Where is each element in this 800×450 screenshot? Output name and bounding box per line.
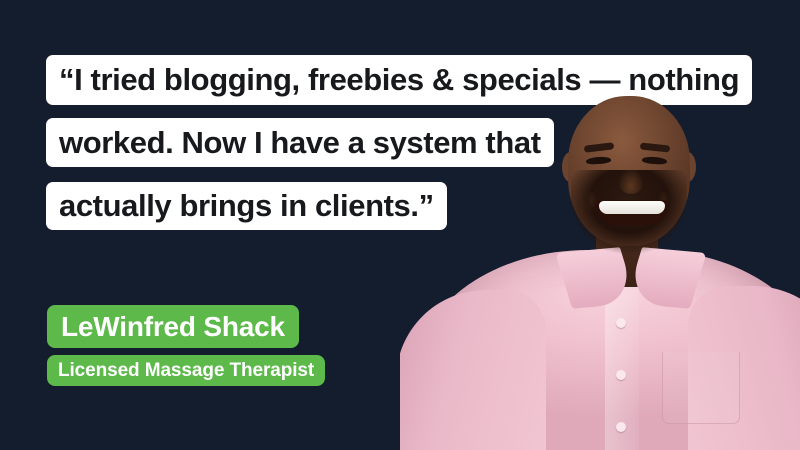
shirt-button — [616, 318, 626, 328]
shirt-pocket — [662, 352, 740, 424]
person-title-badge: Licensed Massage Therapist — [47, 355, 325, 386]
nose — [618, 168, 644, 194]
quote-line-3: actually brings in clients.” — [46, 182, 447, 230]
mouth — [596, 200, 668, 225]
testimonial-graphic: “I tried blogging, freebies & specials —… — [0, 0, 800, 450]
quote-line-2: worked. Now I have a system that — [46, 118, 554, 167]
shirt-button — [616, 370, 626, 380]
teeth — [599, 201, 665, 214]
person-name-badge: LeWinfred Shack — [47, 305, 299, 348]
shirt-button — [616, 422, 626, 432]
